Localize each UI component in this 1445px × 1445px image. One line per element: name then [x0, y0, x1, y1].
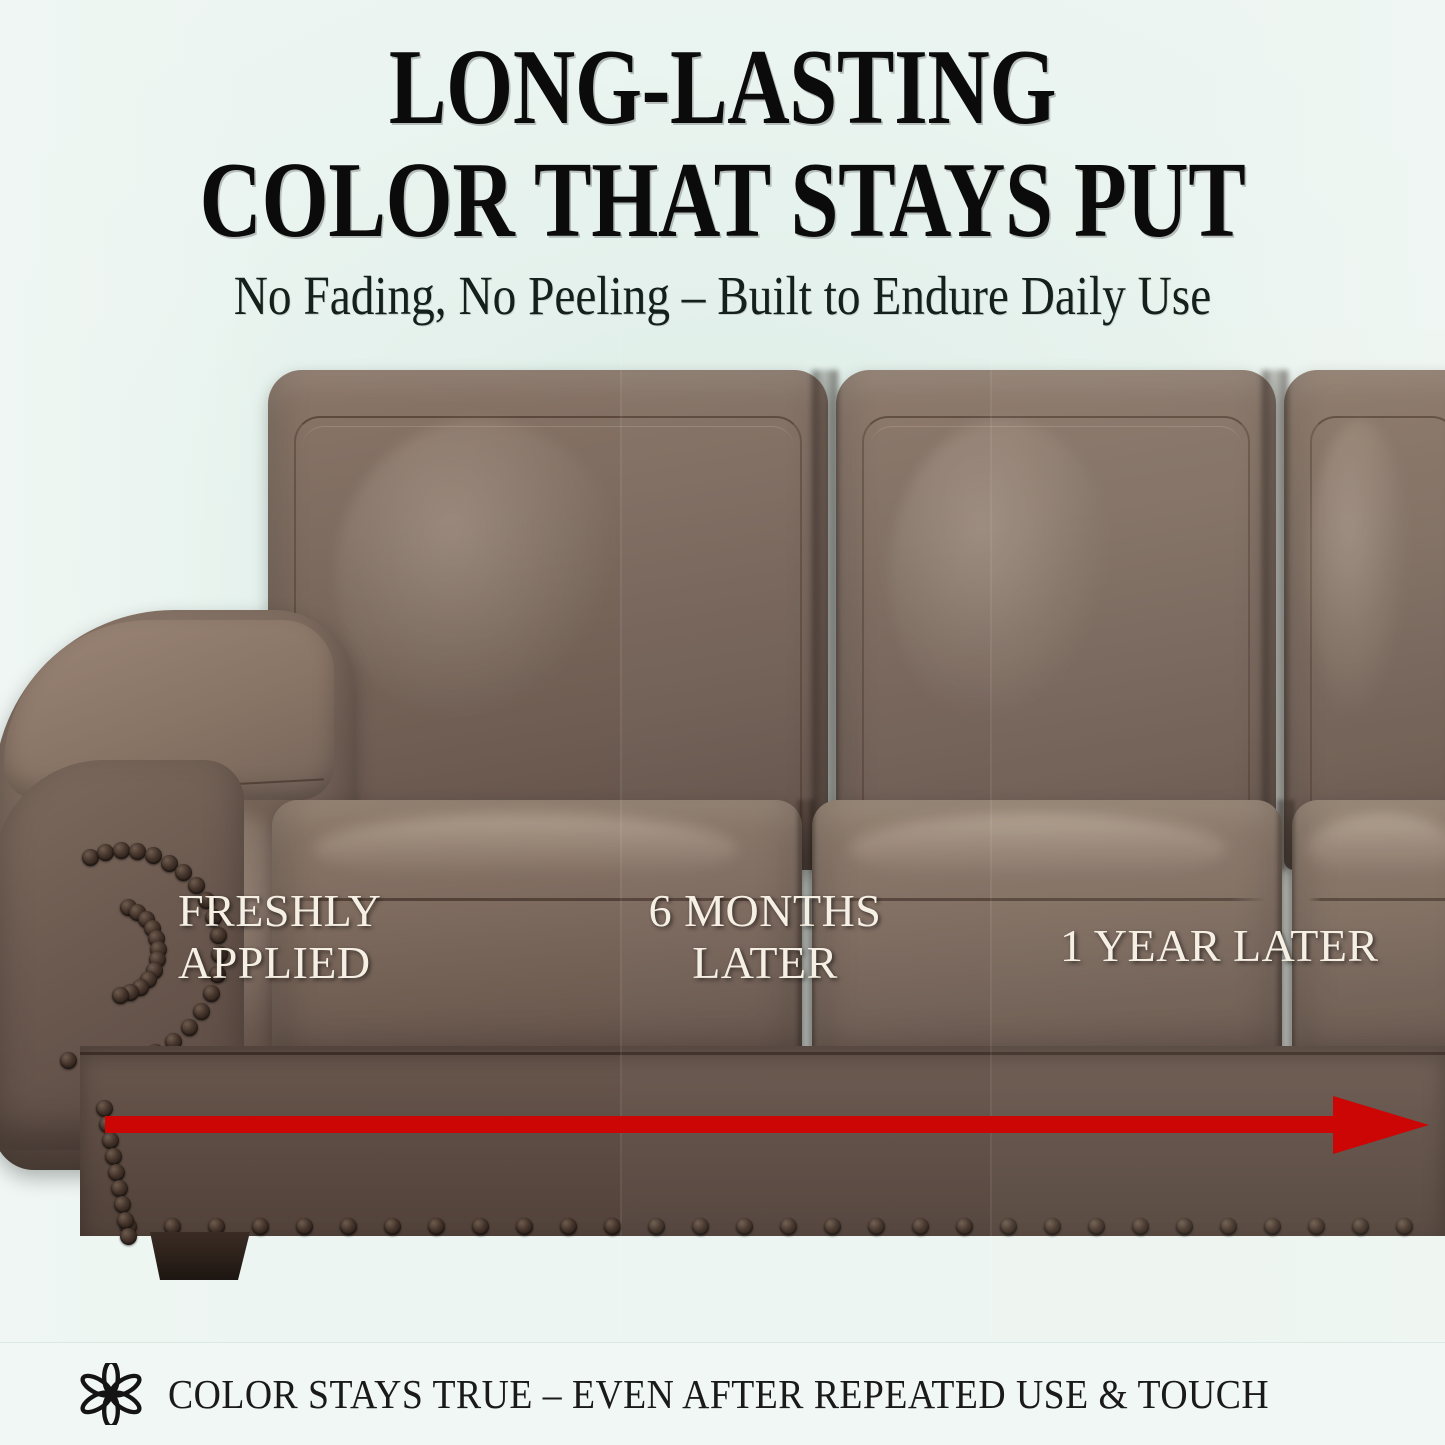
nailhead-stud	[296, 1218, 313, 1235]
nailhead-stud	[108, 1164, 125, 1181]
nailhead-stud	[736, 1218, 753, 1235]
nailhead-stud	[1000, 1218, 1017, 1235]
nailhead-stud	[428, 1218, 445, 1235]
flower-asterisk-icon	[80, 1363, 142, 1425]
leather-sheen	[889, 420, 1118, 730]
promo-image-canvas: LONG-LASTING COLOR THAT STAYS PUT No Fad…	[0, 0, 1445, 1445]
leather-gloss	[1307, 814, 1445, 884]
nailhead-stud	[117, 1212, 134, 1229]
nailhead-stud	[780, 1218, 797, 1235]
headline-line-1: LONG-LASTING	[145, 36, 1301, 141]
sofa-product-image	[0, 330, 1445, 1340]
footer-banner-text: COLOR STAYS TRUE – EVEN AFTER REPEATED U…	[168, 1370, 1269, 1418]
leather-sheen	[1308, 420, 1412, 730]
label-line-2: LATER	[630, 937, 900, 989]
nailhead-stud	[1044, 1218, 1061, 1235]
nailhead-stud	[824, 1218, 841, 1235]
nailhead-stud	[384, 1218, 401, 1235]
cushion-gap-shadow	[812, 370, 838, 870]
label-line-1: 6 MONTHS	[649, 885, 882, 936]
stitch-seam	[1308, 898, 1445, 901]
timeline-arrow-shaft	[105, 1116, 1345, 1133]
nailhead-stud	[560, 1218, 577, 1235]
nailhead-stud	[102, 1132, 119, 1149]
footer-banner-content: COLOR STAYS TRUE – EVEN AFTER REPEATED U…	[80, 1363, 1365, 1425]
nailhead-stud	[692, 1218, 709, 1235]
cushion-gap-shadow	[1262, 370, 1288, 870]
nailhead-stud	[340, 1218, 357, 1235]
sofa-wooden-foot	[150, 1232, 250, 1280]
nailhead-stud	[912, 1218, 929, 1235]
nailhead-stud	[105, 1148, 122, 1165]
nailhead-stud	[472, 1218, 489, 1235]
nailhead-stud	[516, 1218, 533, 1235]
zone-divider	[620, 330, 622, 1340]
sofa-base-rail	[80, 1046, 1445, 1236]
label-line-2: APPLIED	[178, 937, 381, 989]
leather-gloss	[314, 814, 738, 884]
headline-line-2: COLOR THAT STAYS PUT	[145, 149, 1301, 254]
back-cushion-middle	[836, 370, 1276, 870]
label-freshly-applied: FRESHLY APPLIED	[178, 885, 381, 988]
subheadline: No Fading, No Peeling – Built to Endure …	[101, 264, 1344, 327]
nailhead-stud	[111, 1180, 128, 1197]
nailhead-stud	[1352, 1218, 1369, 1235]
label-line-1: 1 YEAR LATER	[1060, 920, 1379, 971]
nailhead-stud	[120, 1228, 137, 1245]
base-seam	[80, 1052, 1445, 1055]
nailhead-stud	[604, 1218, 621, 1235]
nailhead-stud	[956, 1218, 973, 1235]
footer-banner: COLOR STAYS TRUE – EVEN AFTER REPEATED U…	[0, 1342, 1445, 1445]
nailhead-stud	[1088, 1218, 1105, 1235]
back-cushion-right	[1284, 370, 1445, 870]
nailhead-stud	[1132, 1218, 1149, 1235]
leather-sheen	[335, 420, 626, 730]
nailhead-stud	[114, 1196, 131, 1213]
nailhead-stud	[648, 1218, 665, 1235]
label-one-year-later: 1 YEAR LATER	[1060, 920, 1379, 972]
label-six-months-later: 6 MONTHS LATER	[630, 885, 900, 988]
nailhead-stud	[96, 1100, 113, 1117]
zone-divider	[990, 330, 992, 1340]
nailhead-stud	[1264, 1218, 1281, 1235]
headline-block: LONG-LASTING COLOR THAT STAYS PUT	[0, 36, 1445, 254]
nailhead-stud	[868, 1218, 885, 1235]
leather-gloss	[850, 814, 1226, 884]
nailhead-stud	[1220, 1218, 1237, 1235]
nailhead-stud	[252, 1218, 269, 1235]
nailhead-stud	[1396, 1218, 1413, 1235]
nailhead-stud	[1308, 1218, 1325, 1235]
label-line-1: FRESHLY	[178, 885, 381, 936]
nailhead-stud	[1176, 1218, 1193, 1235]
